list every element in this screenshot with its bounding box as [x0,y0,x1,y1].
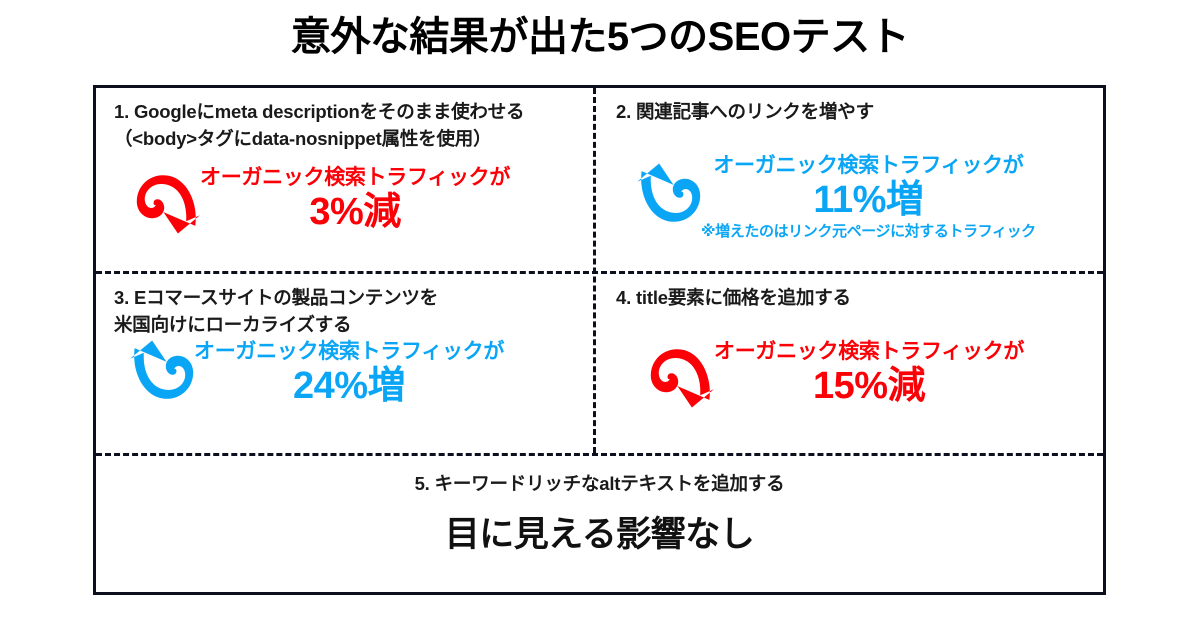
test-card-3: 3. Eコマースサイトの製品コンテンツを 米国向けにローカライズする オーガニッ… [96,274,593,453]
test-card-4-result-label: オーガニック検索トラフィックが [714,340,1024,364]
test-card-3-heading: 3. Eコマースサイトの製品コンテンツを 米国向けにローカライズする [114,285,585,339]
curved-arrow-down-icon [644,336,720,412]
test-card-5-result-value: 目に見える影響なし [96,506,1103,557]
test-card-3-result-text: オーガニック検索トラフィックが 24%増 [194,340,504,408]
test-card-2-result-label: オーガニック検索トラフィックが [713,154,1023,178]
test-card-1-result: オーガニック検索トラフィックが 3%減 [130,162,510,238]
test-card-4-result-value: 15%減 [813,365,925,408]
test-card-5-heading: 5. キーワードリッチなaltテキストを追加する [96,470,1103,496]
page-title: 意外な結果が出た5つのSEOテスト [0,12,1200,62]
test-card-1: 1. Googleにmeta descriptionをそのまま使わせる （<bo… [96,88,593,271]
test-card-3-result-label: オーガニック検索トラフィックが [194,340,504,364]
test-card-4-result-text: オーガニック検索トラフィックが 15%減 [714,340,1024,408]
test-card-2-result-note: ※増えたのはリンク元ページに対するトラフィック [701,223,1036,241]
test-card-3-result-value: 24%増 [293,365,405,408]
curved-arrow-up-icon [124,336,200,412]
test-card-2: 2. 関連記事へのリンクを増やす オーガニック検索トラフィックが 11%増 ※増… [596,88,1103,271]
test-card-3-result: オーガニック検索トラフィックが 24%増 [124,336,504,412]
curved-arrow-down-icon [130,162,206,238]
results-grid: 1. Googleにmeta descriptionをそのまま使わせる （<bo… [93,85,1106,595]
test-card-2-result-text: オーガニック検索トラフィックが 11%増 ※増えたのはリンク元ページに対するトラ… [701,154,1036,241]
test-card-1-result-value: 3%減 [309,191,400,234]
test-card-2-result: オーガニック検索トラフィックが 11%増 ※増えたのはリンク元ページに対するトラ… [631,154,1036,241]
test-card-5: 5. キーワードリッチなaltテキストを追加する 目に見える影響なし [96,456,1103,592]
test-card-1-result-label: オーガニック検索トラフィックが [200,166,510,190]
test-card-4-heading: 4. title要素に価格を追加する [616,285,1095,312]
test-card-4: 4. title要素に価格を追加する オーガニック検索トラフィックが 15%減 [596,274,1103,453]
test-card-2-heading: 2. 関連記事へのリンクを増やす [616,99,1095,126]
curved-arrow-up-icon [631,159,707,235]
test-card-1-result-text: オーガニック検索トラフィックが 3%減 [200,166,510,234]
test-card-1-heading: 1. Googleにmeta descriptionをそのまま使わせる （<bo… [114,99,585,153]
test-card-2-result-value: 11%増 [813,179,923,222]
test-card-4-result: オーガニック検索トラフィックが 15%減 [644,336,1024,412]
